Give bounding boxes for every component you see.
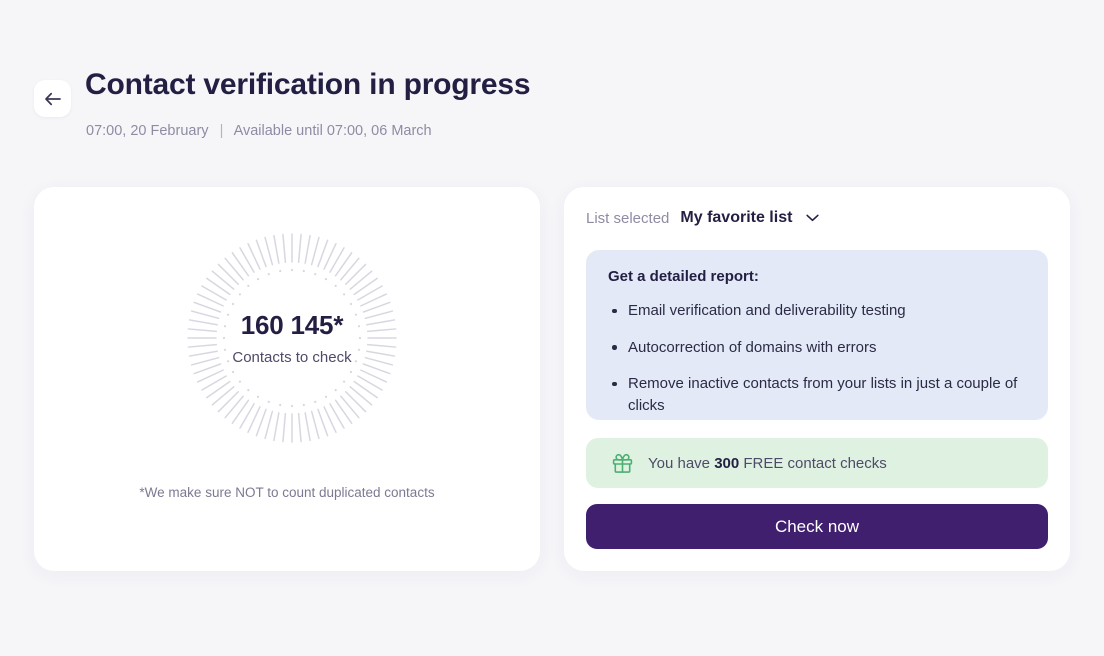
start-time: 07:00, 20 February bbox=[86, 123, 209, 139]
page-subtitle: 07:00, 20 February | Available until 07:… bbox=[86, 123, 432, 139]
available-until: Available until 07:00, 06 March bbox=[234, 123, 432, 139]
contacts-summary-card: 160 145* Contacts to check *We make sure… bbox=[34, 187, 540, 571]
list-item: Remove inactive contacts from your lists… bbox=[608, 373, 1026, 416]
free-checks-banner: You have 300 FREE contact checks bbox=[586, 438, 1048, 488]
contacts-count-label: Contacts to check bbox=[232, 350, 351, 365]
detailed-report-box: Get a detailed report: Email verificatio… bbox=[586, 250, 1048, 420]
chevron-down-icon bbox=[806, 214, 819, 222]
subtitle-separator: | bbox=[213, 123, 231, 139]
free-checks-prefix: You have bbox=[648, 455, 714, 472]
free-checks-text: You have 300 FREE contact checks bbox=[648, 455, 887, 472]
free-checks-suffix: FREE contact checks bbox=[739, 455, 887, 472]
list-selector[interactable]: List selected My favorite list bbox=[586, 206, 819, 230]
list-selected-label: List selected bbox=[586, 210, 669, 227]
arrow-left-icon bbox=[44, 92, 61, 106]
page-header: Contact verification in progress 07:00, … bbox=[34, 76, 1064, 156]
contacts-gauge: 160 145* Contacts to check bbox=[187, 233, 397, 443]
gauge-center-labels: 160 145* Contacts to check bbox=[187, 233, 397, 443]
verification-options-card: List selected My favorite list Get a det… bbox=[564, 187, 1070, 571]
page-title: Contact verification in progress bbox=[85, 68, 530, 102]
list-selected-value[interactable]: My favorite list bbox=[680, 209, 792, 227]
list-item: Email verification and deliverability te… bbox=[608, 300, 1026, 322]
gauge-container: 160 145* Contacts to check bbox=[34, 187, 540, 517]
check-now-button[interactable]: Check now bbox=[586, 504, 1048, 549]
back-button[interactable] bbox=[34, 80, 71, 117]
detailed-report-title: Get a detailed report: bbox=[608, 268, 1026, 285]
duplicates-note: *We make sure NOT to count duplicated co… bbox=[34, 485, 540, 500]
gift-icon bbox=[612, 453, 633, 474]
list-item: Autocorrection of domains with errors bbox=[608, 337, 1026, 359]
free-checks-amount: 300 bbox=[714, 455, 739, 472]
contacts-count: 160 145* bbox=[241, 312, 344, 338]
detailed-report-list: Email verification and deliverability te… bbox=[608, 300, 1026, 416]
list-dropdown-button[interactable] bbox=[806, 214, 819, 222]
